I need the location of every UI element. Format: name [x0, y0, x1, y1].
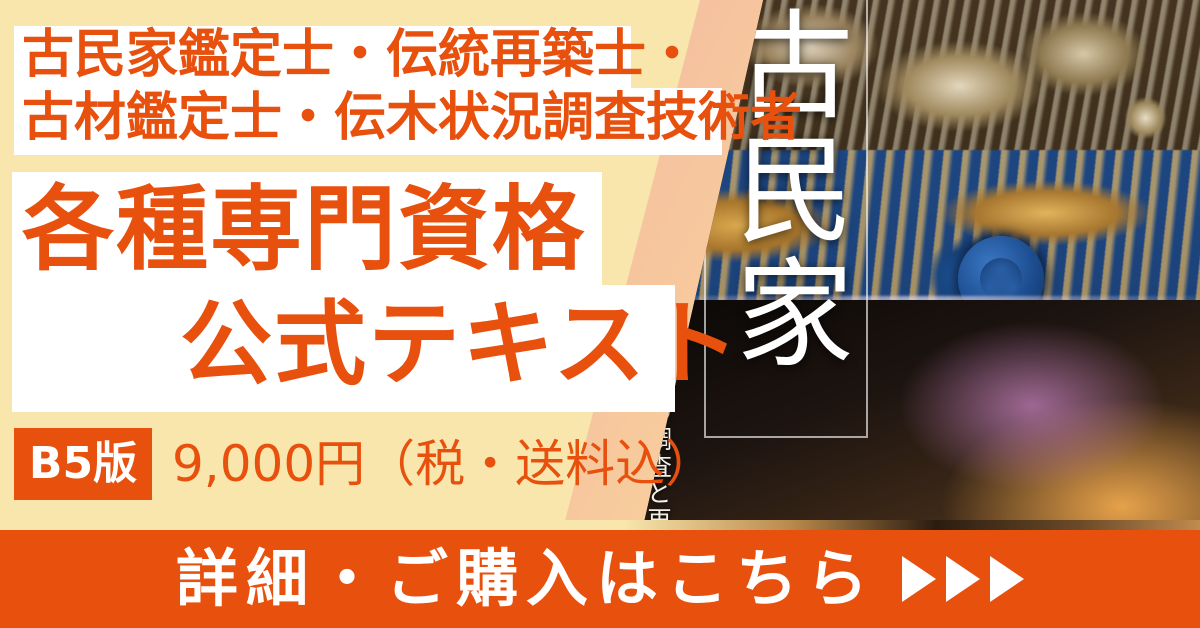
cta-top-strip	[0, 520, 1200, 530]
play-arrow-icon	[902, 556, 936, 602]
headline-top-line-2: 古材鑑定士・伝木状況調査技術者	[22, 87, 802, 149]
headline-main-line-2: 公式テキスト	[180, 290, 741, 400]
cta-label: 詳細・ご購入はこちら	[176, 530, 876, 628]
play-arrow-icon	[990, 556, 1024, 602]
format-badge-b5: B5版	[14, 428, 152, 500]
cta-button[interactable]: 詳細・ご購入はこちら	[0, 530, 1200, 628]
book-cover-image: 古民家 伝統構法、古民家活用のための調査と再生の	[640, 0, 1200, 540]
headline-top-line-1: 古民家鑑定士・伝統再築士・	[22, 25, 698, 85]
play-arrow-icon	[946, 556, 980, 602]
cta-arrow-group	[902, 556, 1024, 602]
price-text: 9,000円（税・送料込）	[172, 428, 715, 500]
promo-banner: 古民家 伝統構法、古民家活用のための調査と再生の 古民家鑑定士・伝統再築士・ 古…	[0, 0, 1200, 628]
headline-main-line-1: 各種専門資格	[22, 178, 586, 282]
